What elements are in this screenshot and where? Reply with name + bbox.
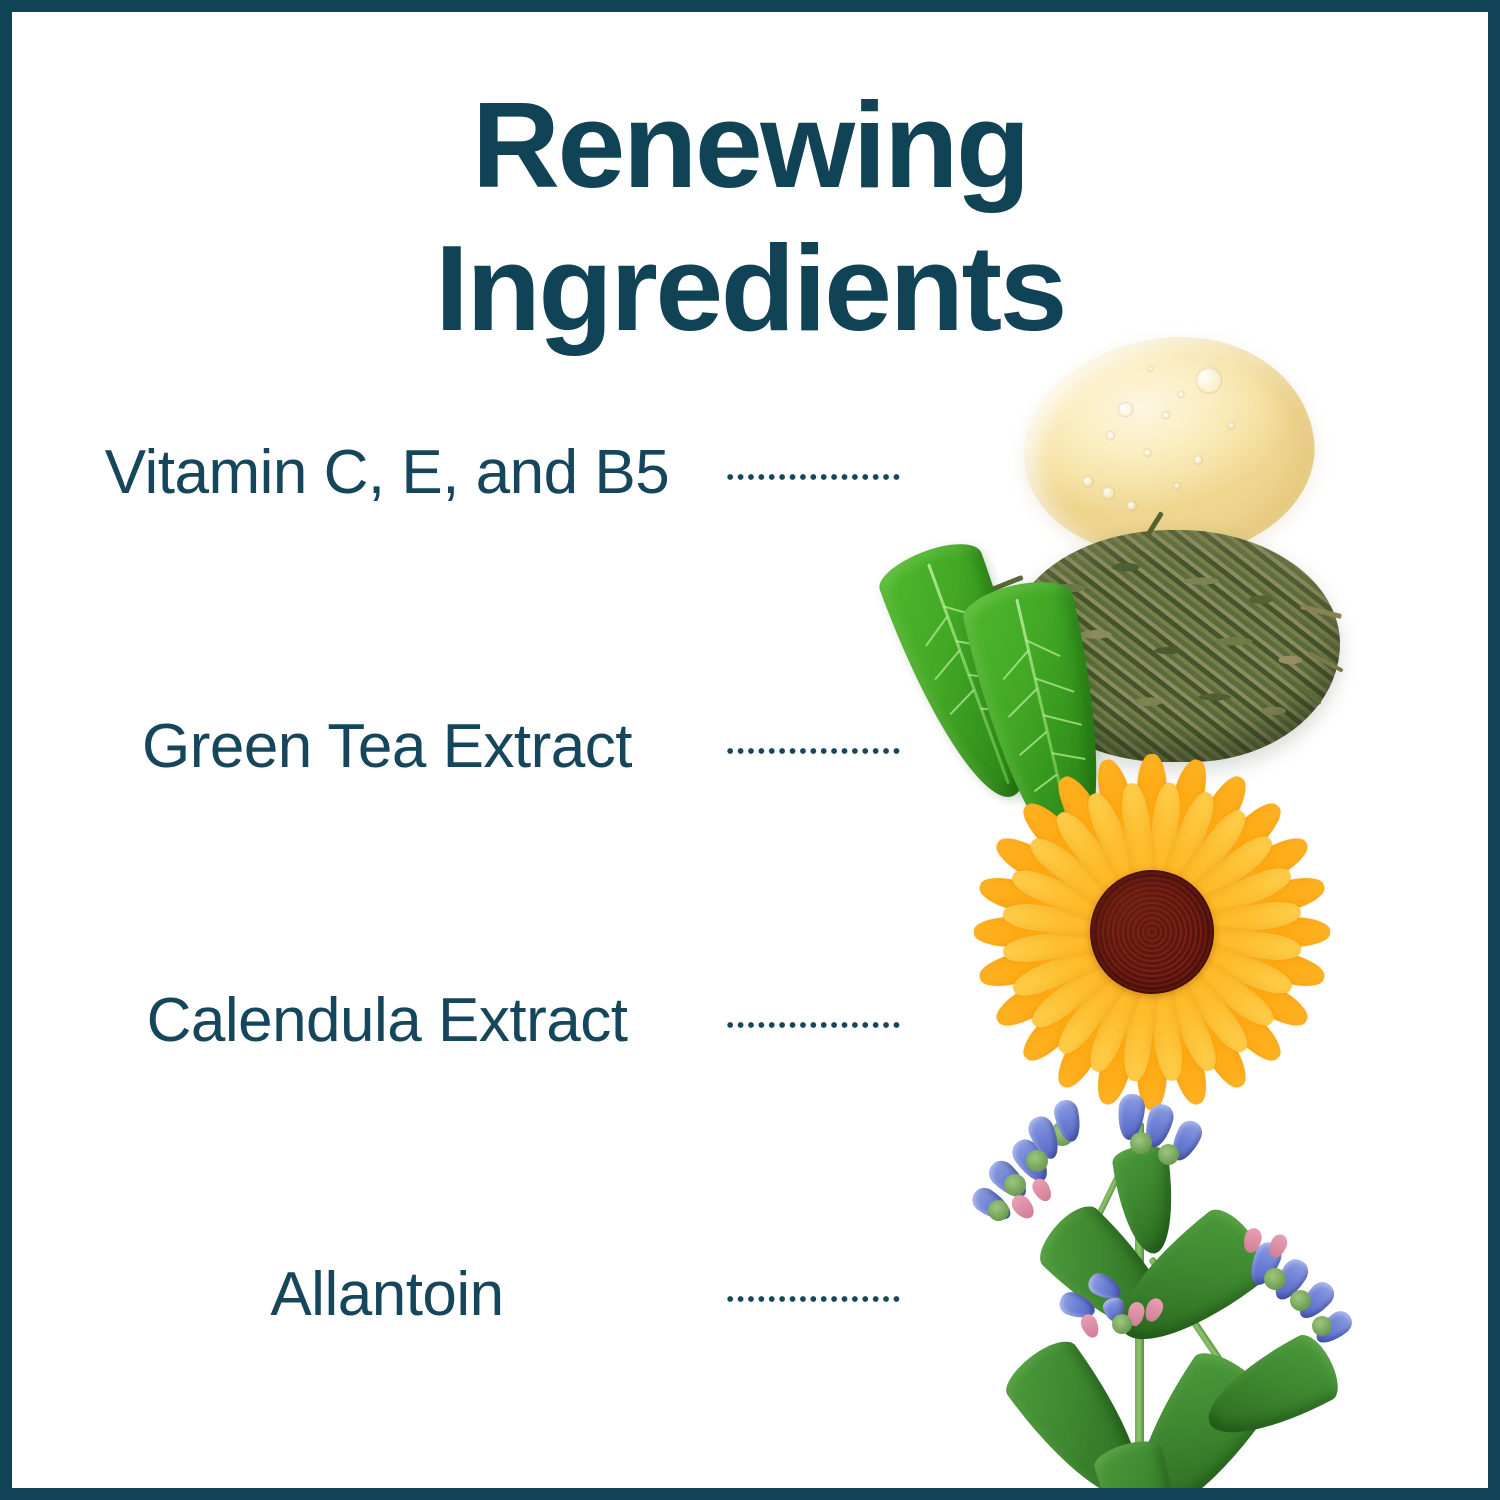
petal-inner [1084, 927, 1164, 1076]
bubble-icon [1101, 486, 1115, 500]
ingredient-row: Vitamin C, E, and B5 [12, 424, 902, 698]
petal [1139, 925, 1254, 1094]
petal-inner [1002, 919, 1154, 966]
leaf-vein [943, 606, 978, 618]
ingredient-row: Calendula Extract [12, 972, 902, 1246]
comfrey-calyx [1026, 1150, 1048, 1172]
comfrey-leaf [1098, 1200, 1278, 1368]
petal [1091, 756, 1166, 936]
comfrey-bell-flower [1268, 1255, 1313, 1306]
petal-inner [1139, 782, 1183, 934]
petal-inner [1051, 924, 1162, 1059]
comfrey-bell-flower [1007, 1135, 1054, 1188]
page-title: Renewing Ingredients [12, 74, 1488, 359]
comfrey-bud [1241, 1226, 1264, 1254]
petal [1138, 928, 1213, 1108]
calendula-flower-image [952, 732, 1352, 1132]
fresh-tea-leaf-front [959, 573, 1130, 866]
comfrey-bell-flower [1140, 1101, 1176, 1150]
petal-inner [1142, 804, 1253, 939]
leader-dots-vitamins [725, 472, 901, 482]
leaf-vein [934, 650, 960, 680]
leaf-midrib [1015, 599, 1074, 841]
comfrey-bud [1266, 1232, 1290, 1260]
comfrey-main-stem [1135, 1122, 1144, 1500]
comfrey-bud [1078, 1312, 1102, 1340]
petal [990, 830, 1159, 945]
leaf-vein [1034, 773, 1058, 791]
petal-inner [1144, 829, 1278, 942]
petal-inner [1150, 898, 1302, 945]
tea-sprig [1146, 511, 1164, 536]
title-line-2: Ingredients [12, 217, 1488, 360]
petal-inner [1026, 922, 1160, 1035]
bubble-icon [1173, 482, 1181, 490]
comfrey-bud [1126, 1301, 1146, 1327]
leaf-vein [925, 616, 948, 646]
comfrey-calyx [988, 1200, 1009, 1221]
leader-dots-calendula [725, 1020, 901, 1030]
comfrey-bud [1142, 1296, 1166, 1324]
petal [1148, 871, 1328, 946]
ingredient-list: Vitamin C, E, and B5 Green Tea Extract C… [12, 424, 902, 1500]
petal [1050, 925, 1165, 1094]
bubble-icon [1126, 501, 1137, 512]
leader-dots-allantoin [725, 1294, 901, 1304]
petal-inner [1049, 806, 1162, 940]
petal [1138, 756, 1213, 936]
calendula-center-disc [1090, 870, 1214, 994]
petal-inner [1140, 927, 1223, 1075]
comfrey-bell-flower [1245, 1239, 1286, 1290]
leaf-vein [968, 674, 1006, 680]
petal [1139, 770, 1254, 939]
title-line-1: Renewing [12, 74, 1488, 217]
comfrey-bell-flower [1166, 1117, 1206, 1165]
comfrey-bud [1008, 1191, 1039, 1222]
petal-inner [1002, 901, 1154, 945]
leaf-vein [1019, 730, 1047, 755]
bubble-icon [1082, 475, 1094, 487]
comfrey-bell-flower [1085, 1269, 1125, 1304]
ingredient-row: Green Tea Extract [12, 698, 902, 972]
comfrey-leaf [1193, 1328, 1347, 1455]
leader-dots-green-tea [725, 746, 901, 756]
ingredient-infographic-card: Renewing Ingredients Vitamin C, E, and B… [0, 0, 1500, 1500]
comfrey-bell-flower [1293, 1277, 1339, 1324]
petal [1137, 932, 1167, 1110]
tea-sprig [1308, 651, 1343, 672]
petal-inner [1140, 788, 1220, 937]
petal [974, 917, 1152, 947]
comfrey-leaf [1091, 1435, 1196, 1500]
ingredient-label-vitamins: Vitamin C, E, and B5 [72, 442, 702, 504]
petal [1145, 919, 1314, 1034]
leaf-vein [956, 640, 996, 649]
leaf-midrib [927, 564, 1010, 785]
comfrey-leaf [1030, 1197, 1192, 1357]
petal [1016, 921, 1163, 1068]
petal-inner [1024, 831, 1159, 942]
comfrey-calyx [1004, 1174, 1026, 1196]
bubble-icon [1227, 422, 1235, 430]
bubble-icon [1193, 455, 1203, 465]
leaf-vein [1025, 639, 1060, 657]
comfrey-leaf [1111, 1143, 1181, 1258]
leaf-vein [1034, 677, 1074, 693]
petal-inner [1118, 782, 1165, 934]
ingredient-label-green-tea: Green Tea Extract [72, 716, 702, 778]
ingredient-imagery-column [892, 332, 1492, 1500]
petal [1141, 796, 1288, 943]
leaf-vein [949, 689, 974, 715]
petal-inner [1144, 922, 1279, 1033]
petal [976, 918, 1156, 993]
ingredient-row: Allantoin [12, 1246, 902, 1500]
ingredient-label-calendula: Calendula Extract [72, 990, 702, 1052]
tea-sprig [1043, 725, 1073, 738]
tea-sprig [991, 575, 1024, 592]
comfrey-calyx [1130, 1132, 1152, 1154]
petal [1148, 918, 1328, 993]
comfrey-calyx [1264, 1268, 1286, 1290]
comfrey-bell-flower [968, 1183, 1016, 1226]
petal [1152, 917, 1330, 947]
petal-inner [1147, 861, 1295, 944]
bubble-icon [1177, 391, 1185, 399]
petal-inner [1139, 930, 1186, 1082]
petal-inner [1147, 920, 1296, 1000]
petal [1016, 796, 1163, 943]
bubble-icon [1194, 366, 1223, 395]
tea-sprig [1296, 683, 1322, 705]
leaf-vein [1051, 752, 1085, 760]
petal [1091, 928, 1166, 1108]
petal [1145, 830, 1314, 945]
petal-inner [1008, 864, 1157, 944]
comfrey-bell-flower [1101, 1296, 1128, 1325]
ingredient-label-allantoin: Allantoin [72, 1264, 702, 1326]
petal-inner [1121, 930, 1165, 1082]
tea-sprig [1300, 604, 1342, 619]
petal-inner [1150, 919, 1302, 963]
petal [1137, 754, 1167, 932]
petal [1050, 770, 1165, 939]
bubble-icon [1147, 366, 1154, 373]
petal-inner [1009, 920, 1157, 1003]
petal [976, 871, 1156, 946]
bubble-icon [1162, 410, 1171, 419]
comfrey-calyx [1312, 1316, 1332, 1336]
green-tea-leaves-image [1010, 530, 1340, 762]
comfrey-bell-flower [1052, 1098, 1084, 1144]
comfrey-leaf [1108, 1343, 1280, 1500]
leaf-vein [1060, 789, 1086, 794]
comfrey-calyx [1112, 1314, 1132, 1334]
comfrey-bud [1029, 1176, 1055, 1205]
petal-inner [1081, 789, 1164, 937]
comfrey-leaf [997, 1332, 1166, 1500]
comfrey-bell-flower [984, 1156, 1033, 1205]
comfrey-calyx [1050, 1122, 1074, 1146]
comfrey-plant-image [922, 1092, 1392, 1500]
leaf-vein [1008, 688, 1038, 718]
comfrey-calyx [1158, 1144, 1179, 1165]
leaf-vein [981, 708, 1013, 711]
comfrey-bell-flower [1116, 1093, 1147, 1141]
leaf-vein [1002, 650, 1028, 680]
comfrey-calyx [1290, 1290, 1311, 1311]
comfrey-branch-stem [1148, 1256, 1238, 1384]
bubble-icon [1106, 430, 1116, 440]
comfrey-bell-flower [1311, 1307, 1357, 1350]
leaf-vein [1043, 714, 1082, 726]
comfrey-bell-flower [1025, 1113, 1065, 1163]
bubble-icon [1143, 448, 1152, 457]
comfrey-branch-stem [1084, 1149, 1133, 1242]
comfrey-bell-flower [1057, 1289, 1099, 1323]
petal-inner [1142, 924, 1255, 1058]
petal [990, 919, 1159, 1034]
petal [1141, 921, 1288, 1068]
bubble-icon [1117, 402, 1134, 419]
